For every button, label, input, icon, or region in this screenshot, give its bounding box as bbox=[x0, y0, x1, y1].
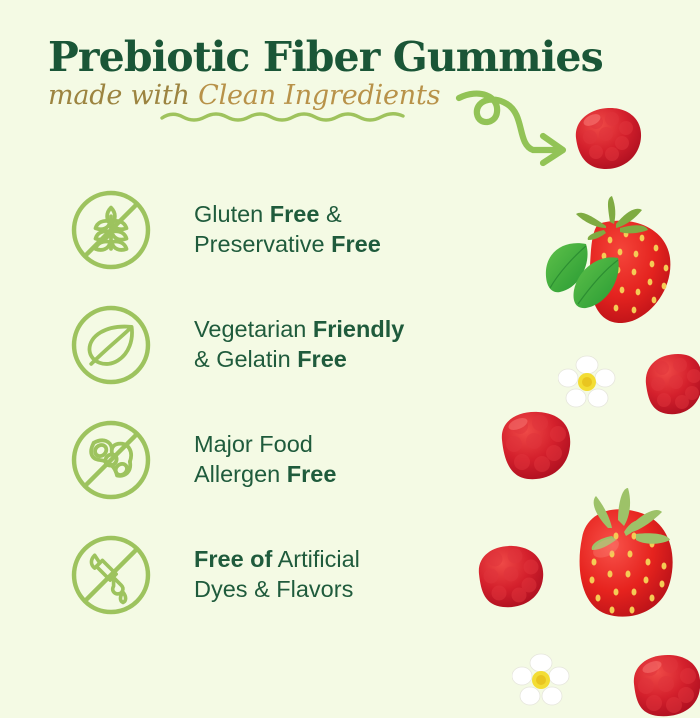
claim-line2-bold: Free bbox=[287, 461, 337, 487]
mint-leaf-left bbox=[546, 243, 588, 292]
curly-arrow-icon bbox=[455, 90, 580, 170]
wavy-underline-icon bbox=[160, 110, 405, 124]
claim-text: Major Food Allergen Free bbox=[194, 430, 336, 490]
claim-row: Free of Artificial Dyes & Flavors bbox=[68, 517, 404, 632]
gummy-raspberry-lower-left bbox=[475, 542, 547, 612]
claim-row: Gluten Free & Preservative Free bbox=[68, 172, 404, 287]
claim-row: Vegetarian Friendly & Gelatin Free bbox=[68, 287, 404, 402]
claim-line1-bold: Free of bbox=[194, 546, 272, 572]
claim-line2-plain: Preservative bbox=[194, 231, 331, 257]
no-dye-dropper-icon bbox=[68, 532, 154, 618]
claim-line2-plain: & Gelatin bbox=[194, 346, 297, 372]
claim-line1-suffix: Artificial bbox=[272, 546, 360, 572]
claim-line2-bold: Free bbox=[331, 231, 381, 257]
claim-line2-plain: Allergen bbox=[194, 461, 287, 487]
claim-line1-plain: Major Food bbox=[194, 431, 313, 457]
product-claims-infographic: Prebiotic Fiber Gummies made with Clean … bbox=[0, 0, 700, 700]
claim-text: Gluten Free & Preservative Free bbox=[194, 200, 381, 260]
subtitle-emphasis: Clean Ingredients bbox=[198, 80, 440, 111]
gummy-raspberry-mid-left bbox=[496, 408, 576, 484]
subtitle-group: made with Clean Ingredients bbox=[48, 80, 458, 111]
page-title: Prebiotic Fiber Gummies bbox=[48, 36, 603, 79]
claim-line1-plain: Vegetarian bbox=[194, 316, 313, 342]
claim-text: Vegetarian Friendly & Gelatin Free bbox=[194, 315, 404, 375]
claim-line1-plain: Gluten bbox=[194, 201, 270, 227]
gummy-raspberry-bottom-right bbox=[628, 650, 700, 718]
claims-list: Gluten Free & Preservative Free Vegetari… bbox=[68, 172, 404, 632]
strawberry-lower bbox=[552, 470, 692, 620]
strawberry-blossom-upper bbox=[558, 354, 616, 410]
claim-line1-bold: Friendly bbox=[313, 316, 404, 342]
no-gluten-wheat-icon bbox=[68, 187, 154, 273]
gummy-raspberry-right-upper bbox=[644, 352, 700, 418]
subtitle-prefix: made with bbox=[48, 80, 198, 111]
claim-line1-suffix: & bbox=[319, 201, 341, 227]
claim-line2-plain: Dyes & Flavors bbox=[194, 576, 353, 602]
leaf-icon bbox=[68, 302, 154, 388]
strawberry-with-mint-leaves bbox=[542, 192, 692, 324]
claim-line1-bold: Free bbox=[270, 201, 320, 227]
subtitle: made with Clean Ingredients bbox=[48, 80, 458, 111]
no-soybean-allergen-icon bbox=[68, 417, 154, 503]
claim-text: Free of Artificial Dyes & Flavors bbox=[194, 545, 360, 605]
mint-leaf-right bbox=[574, 257, 619, 308]
claim-line2-bold: Free bbox=[297, 346, 347, 372]
claim-row: Major Food Allergen Free bbox=[68, 402, 404, 517]
